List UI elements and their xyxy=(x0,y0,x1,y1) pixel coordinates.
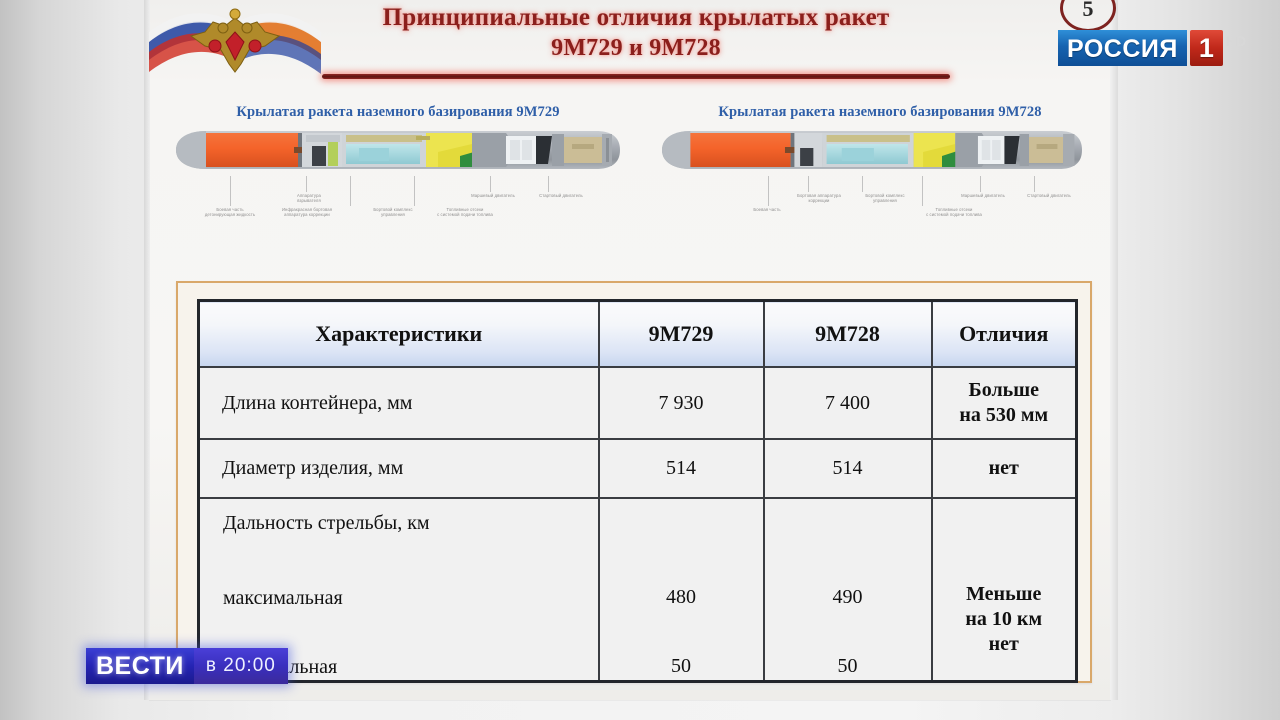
callout-label: Маршевый двигатель xyxy=(460,193,526,198)
callout-label: Топливные отсеки с системой подачи топли… xyxy=(418,207,512,218)
range-difference-line-2: на 10 км xyxy=(934,607,1075,632)
cell-9m729-container-length: 7 930 xyxy=(599,367,764,439)
callout-label: Стартовый двигатель xyxy=(528,193,594,198)
cell-9m728-container-length: 7 400 xyxy=(764,367,932,439)
range-difference-line-1: Меньше xyxy=(934,582,1075,607)
table-row: Длина контейнера, мм 7 930 7 400 Больше … xyxy=(199,367,1077,439)
missile-callouts-9m728: Боевая часть Бортовая аппаратура коррекц… xyxy=(650,176,1110,232)
comparison-table: Характеристики 9М729 9М728 Отличия Длина… xyxy=(197,299,1078,683)
range-min-9m729: 50 xyxy=(601,655,762,678)
callout-label: Боевая часть xyxy=(736,207,798,212)
missile-cutaway-9m729 xyxy=(168,130,628,174)
range-difference-line-3: нет xyxy=(934,632,1075,657)
cell-9m728-range: 490 50 xyxy=(764,498,932,682)
table-header-9m729: 9М729 xyxy=(599,301,764,368)
program-name-block: ВЕСТИ xyxy=(86,648,194,684)
cell-difference-diameter: нет xyxy=(932,439,1077,498)
cell-9m729-range: 480 50 xyxy=(599,498,764,682)
program-time-block: в 20:00 xyxy=(194,648,288,684)
channel-logo-number: 1 xyxy=(1190,30,1223,66)
channel-logo-name-text: РОССИЯ xyxy=(1067,35,1178,64)
table-row-range: Дальность стрельбы, км максимальная мини… xyxy=(199,498,1077,682)
table-header-characteristics: Характеристики xyxy=(199,301,599,368)
program-time: в 20:00 xyxy=(206,655,276,677)
missile-diagram-9m729: Крылатая ракета наземного базирования 9М… xyxy=(168,104,628,259)
callout-label: Аппаратура взрывателя xyxy=(280,193,338,204)
missile-cutaway-9m728 xyxy=(650,130,1110,174)
missile-callouts-9m729: Боевая часть детонирующая жидкость Инфра… xyxy=(168,176,628,232)
tv-broadcast-frame: Принципиальные отличия крылатых ракет 9М… xyxy=(0,0,1280,720)
callout-label: Стартовый двигатель xyxy=(1016,193,1082,198)
table-row: Диаметр изделия, мм 514 514 нет xyxy=(199,439,1077,498)
range-max-label: максимальная xyxy=(223,587,597,610)
program-name: ВЕСТИ xyxy=(96,652,184,681)
channel-logo-name: РОССИЯ xyxy=(1058,30,1187,66)
slide-title-line-1: Принципиальные отличия крылатых ракет xyxy=(316,2,956,33)
range-max-9m729: 480 xyxy=(601,586,762,609)
comparison-table-frame: Характеристики 9М729 9М728 Отличия Длина… xyxy=(176,281,1092,683)
table-header-9m728: 9М728 xyxy=(764,301,932,368)
channel-logo-hd-badge: HD xyxy=(1223,30,1246,66)
ministry-of-defence-emblem xyxy=(145,2,325,84)
slide-title: Принципиальные отличия крылатых ракет 9М… xyxy=(316,2,956,80)
cell-9m728-diameter: 514 xyxy=(764,439,932,498)
difference-line-1: Больше на 530 мм xyxy=(934,378,1075,428)
missile-diagram-title-9m728: Крылатая ракета наземного базирования 9М… xyxy=(650,104,1110,121)
missile-diagram-9m728: Крылатая ракета наземного базирования 9М… xyxy=(650,104,1110,259)
callout-label: Бортовой комплекс управления xyxy=(850,193,920,204)
callout-label: Боевая часть детонирующая жидкость xyxy=(190,207,270,218)
row-label-container-length: Длина контейнера, мм xyxy=(199,367,599,439)
callout-label: Топливные отсеки с системой подачи топли… xyxy=(906,207,1002,218)
range-max-9m728: 490 xyxy=(766,586,930,609)
channel-logo: РОССИЯ 1 HD xyxy=(1058,30,1246,66)
cell-difference-range: Меньше на 10 км нет xyxy=(932,498,1077,682)
lower-third-banner: ВЕСТИ в 20:00 xyxy=(86,648,288,684)
title-underline-rule xyxy=(322,74,950,79)
cell-difference-container-length: Больше на 530 мм xyxy=(932,367,1077,439)
row-label-diameter: Диаметр изделия, мм xyxy=(199,439,599,498)
callout-label: Бортовая аппаратура коррекции xyxy=(782,193,856,204)
slide-title-line-2: 9М729 и 9М728 xyxy=(316,33,956,64)
table-header-differences: Отличия xyxy=(932,301,1077,368)
cell-9m729-diameter: 514 xyxy=(599,439,764,498)
range-min-9m728: 50 xyxy=(766,655,930,678)
callout-label: Инфракрасная бортовая аппаратура коррекц… xyxy=(264,207,350,218)
table-header-row: Характеристики 9М729 9М728 Отличия xyxy=(199,301,1077,368)
range-heading: Дальность стрельбы, км xyxy=(223,512,597,535)
missile-diagram-title-9m729: Крылатая ракета наземного базирования 9М… xyxy=(168,104,628,121)
slide-number-value: 5 xyxy=(1060,0,1116,22)
callout-label: Маршевый двигатель xyxy=(950,193,1016,198)
